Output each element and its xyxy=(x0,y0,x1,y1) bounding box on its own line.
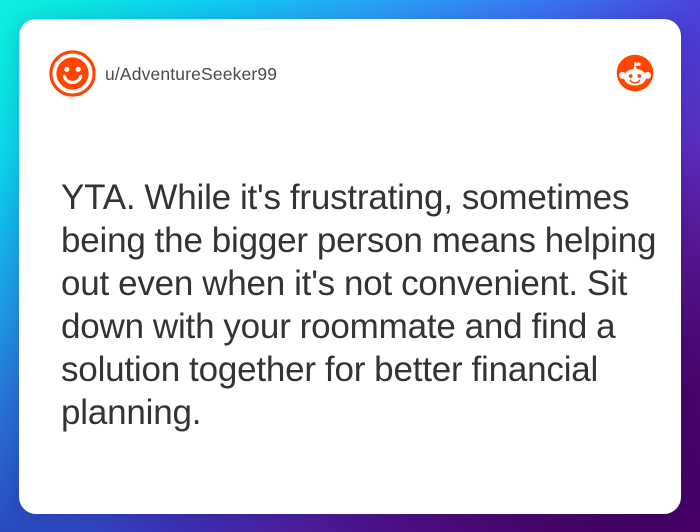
reddit-snoo-logo-icon xyxy=(616,54,654,92)
screenshot-stage: u/AdventureSeeker99 xyxy=(0,0,700,532)
reddit-comment-card: u/AdventureSeeker99 xyxy=(19,19,681,514)
avatar xyxy=(49,50,96,97)
username-label: u/AdventureSeeker99 xyxy=(105,62,277,86)
comment-text: YTA. While it's frustrating, sometimes b… xyxy=(61,176,681,434)
comment-card-header: u/AdventureSeeker99 xyxy=(19,19,681,111)
